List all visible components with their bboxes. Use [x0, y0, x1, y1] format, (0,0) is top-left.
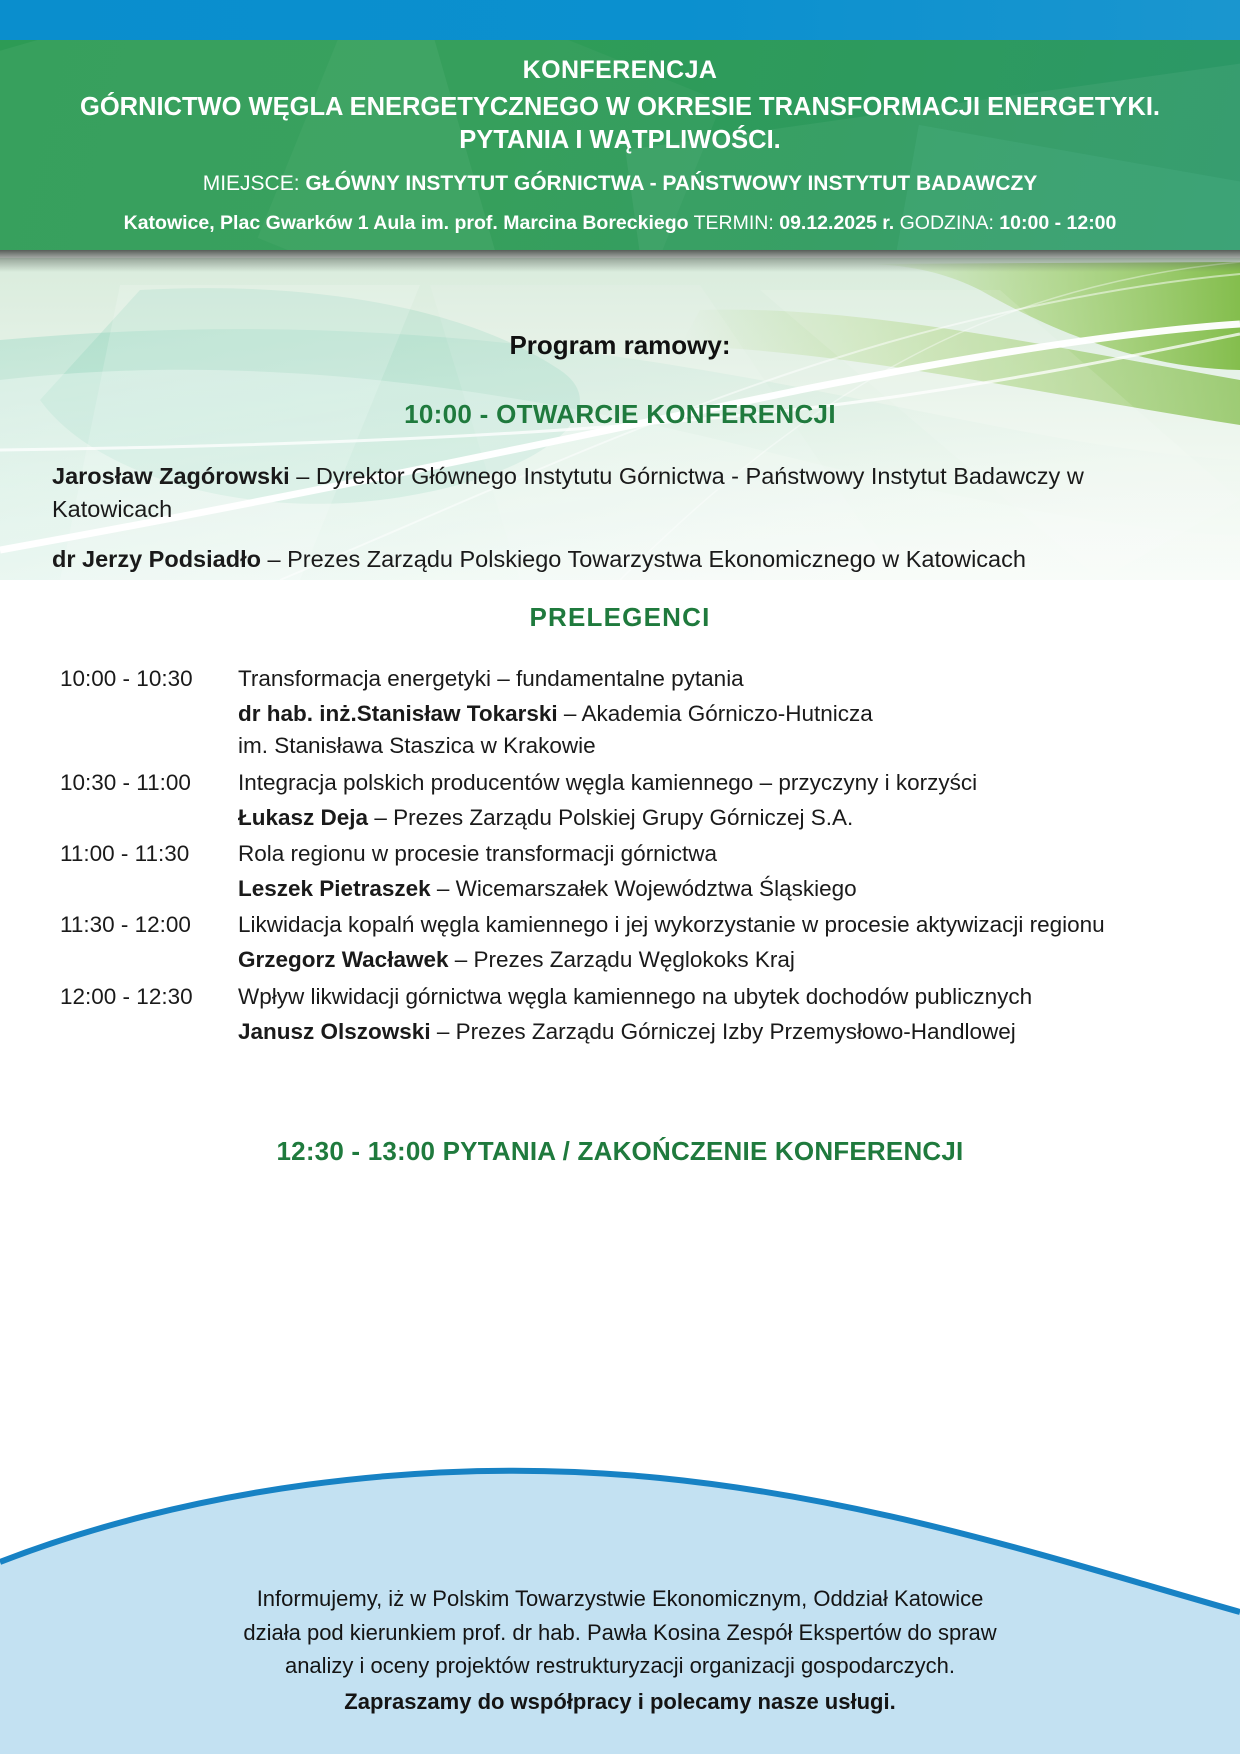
- session-time: 11:00 - 11:30: [60, 838, 238, 870]
- schedule-row: 10:30 - 11:00 Integracja polskich produc…: [60, 767, 1198, 834]
- venue-value: GŁÓWNY INSTYTUT GÓRNICTWA - PAŃSTWOWY IN…: [305, 172, 1037, 195]
- schedule-list: 10:00 - 10:30 Transformacja energetyki –…: [0, 663, 1240, 1048]
- top-blue-accent-bar: [0, 0, 1240, 40]
- session-topic: Rola regionu w procesie transformacji gó…: [238, 838, 1198, 870]
- session-time: 10:30 - 11:00: [60, 767, 238, 799]
- session-details: Rola regionu w procesie transformacji gó…: [238, 838, 1198, 905]
- footer-line-3: analizy i oceny projektów restrukturyzac…: [0, 1649, 1240, 1682]
- opening-speaker-name: Jarosław Zagórowski: [52, 463, 290, 489]
- date-value: 09.12.2025 r.: [779, 212, 894, 234]
- footer-line-1: Informujemy, iż w Polskim Towarzystwie E…: [0, 1582, 1240, 1615]
- venue-label: MIEJSCE:: [203, 172, 300, 195]
- schedule-row: 11:30 - 12:00 Likwidacja kopalń węgla ka…: [60, 909, 1198, 976]
- session-speaker: Łukasz Deja – Prezes Zarządu Polskiej Gr…: [238, 802, 1198, 834]
- session-details: Likwidacja kopalń węgla kamiennego i jej…: [238, 909, 1198, 976]
- opening-speakers-list: Jarosław Zagórowski – Dyrektor Głównego …: [0, 460, 1240, 576]
- session-speaker-name: Grzegorz Wacławek: [238, 947, 449, 972]
- speakers-heading: PRELEGENCI: [0, 602, 1240, 633]
- session-speaker: Grzegorz Wacławek – Prezes Zarządu Węglo…: [238, 944, 1198, 976]
- opening-speaker-item: dr Jerzy Podsiadło – Prezes Zarządu Pols…: [52, 543, 1185, 576]
- header-text-block: KONFERENCJA GÓRNICTWO WĘGLA ENERGETYCZNE…: [0, 40, 1240, 236]
- session-speaker-name: Leszek Pietraszek: [238, 876, 431, 901]
- conference-program-poster: KONFERENCJA GÓRNICTWO WĘGLA ENERGETYCZNE…: [0, 0, 1240, 1754]
- program-content: Program ramowy: 10:00 - OTWARCIE KONFERE…: [0, 330, 1240, 1167]
- session-speaker: Leszek Pietraszek – Wicemarszałek Wojewó…: [238, 873, 1198, 905]
- venue-address: Katowice, Plac Gwarków 1 Aula im. prof. …: [124, 212, 689, 234]
- opening-speaker-name: dr Jerzy Podsiadło: [52, 546, 261, 572]
- session-time: 10:00 - 10:30: [60, 663, 238, 695]
- footer-line-2: działa pod kierunkiem prof. dr hab. Pawł…: [0, 1616, 1240, 1649]
- session-topic: Wpływ likwidacji górnictwa węgla kamienn…: [238, 981, 1198, 1013]
- schedule-row: 10:00 - 10:30 Transformacja energetyki –…: [60, 663, 1198, 763]
- session-speaker-role: – Prezes Zarządu Polskiej Grupy Górnicze…: [368, 805, 853, 830]
- footer-text-block: Informujemy, iż w Polskim Towarzystwie E…: [0, 1582, 1240, 1718]
- schedule-row: 11:00 - 11:30 Rola regionu w procesie tr…: [60, 838, 1198, 905]
- header-title: GÓRNICTWO WĘGLA ENERGETYCZNEGO W OKRESIE…: [0, 91, 1240, 157]
- header-title-line-2: PYTANIA I WĄTPLIWOŚCI.: [459, 126, 781, 154]
- session-speaker-role: – Prezes Zarządu Węglokoks Kraj: [449, 947, 795, 972]
- session-details: Transformacja energetyki – fundamentalne…: [238, 663, 1198, 763]
- session-details: Integracja polskich producentów węgla ka…: [238, 767, 1198, 834]
- session-speaker: Janusz Olszowski – Prezes Zarządu Górnic…: [238, 1016, 1198, 1048]
- session-speaker-name: Janusz Olszowski: [238, 1019, 431, 1044]
- time-value: 10:00 - 12:00: [999, 212, 1116, 234]
- session-speaker-extra: im. Stanisława Staszica w Krakowie: [238, 730, 1198, 762]
- header-banner: KONFERENCJA GÓRNICTWO WĘGLA ENERGETYCZNE…: [0, 40, 1240, 250]
- session-topic: Integracja polskich producentów węgla ka…: [238, 767, 1198, 799]
- session-details: Wpływ likwidacji górnictwa węgla kamienn…: [238, 981, 1198, 1048]
- session-speaker: dr hab. inż.Stanisław Tokarski – Akademi…: [238, 698, 1198, 730]
- header-datetime: Katowice, Plac Gwarków 1 Aula im. prof. …: [0, 212, 1240, 235]
- session-speaker-name: Łukasz Deja: [238, 805, 368, 830]
- header-drop-shadow-strip: [0, 250, 1240, 272]
- session-speaker-role: – Prezes Zarządu Górniczej Izby Przemysł…: [431, 1019, 1016, 1044]
- session-speaker-role: – Akademia Górniczo-Hutnicza: [558, 701, 873, 726]
- session-time: 12:00 - 12:30: [60, 981, 238, 1013]
- closing-heading: 12:30 - 13:00 PYTANIA / ZAKOŃCZENIE KONF…: [0, 1136, 1240, 1167]
- opening-heading: 10:00 - OTWARCIE KONFERENCJI: [0, 399, 1240, 430]
- opening-speaker-item: Jarosław Zagórowski – Dyrektor Głównego …: [52, 460, 1185, 527]
- session-speaker-name: dr hab. inż.Stanisław Tokarski: [238, 701, 558, 726]
- session-topic: Transformacja energetyki – fundamentalne…: [238, 663, 1198, 695]
- opening-speaker-role: – Prezes Zarządu Polskiego Towarzystwa E…: [261, 546, 1026, 572]
- date-label: TERMIN:: [694, 212, 774, 234]
- footer-line-4: Zapraszamy do współpracy i polecamy nasz…: [0, 1685, 1240, 1718]
- header-kicker: KONFERENCJA: [0, 56, 1240, 85]
- page-title: Program ramowy:: [0, 330, 1240, 361]
- schedule-row: 12:00 - 12:30 Wpływ likwidacji górnictwa…: [60, 981, 1198, 1048]
- header-venue: MIEJSCE: GŁÓWNY INSTYTUT GÓRNICTWA - PAŃ…: [0, 171, 1240, 196]
- session-time: 11:30 - 12:00: [60, 909, 238, 941]
- session-speaker-role: – Wicemarszałek Województwa Śląskiego: [431, 876, 857, 901]
- time-label: GODZINA:: [900, 212, 994, 234]
- session-topic: Likwidacja kopalń węgla kamiennego i jej…: [238, 909, 1198, 941]
- header-title-line-1: GÓRNICTWO WĘGLA ENERGETYCZNEGO W OKRESIE…: [80, 93, 1160, 121]
